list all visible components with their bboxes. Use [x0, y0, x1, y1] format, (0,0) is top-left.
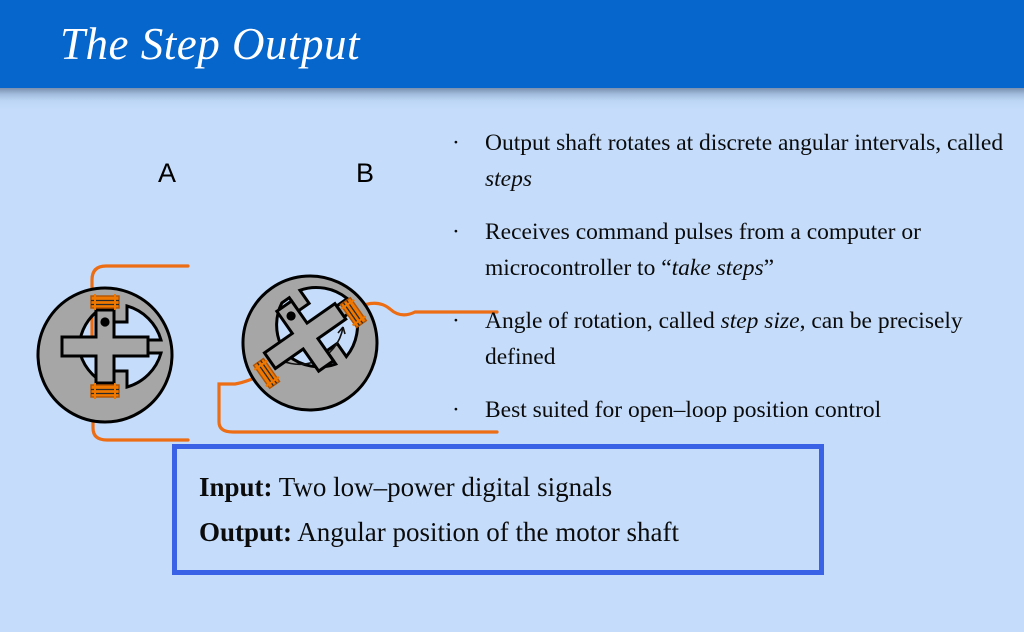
io-line-value: Two low–power digital signals	[273, 472, 613, 502]
bullet-marker-icon: ·	[452, 303, 460, 339]
bullet-item: ·Best suited for open–loop position cont…	[443, 392, 1013, 428]
motor-a-figure	[0, 170, 220, 470]
bullet-text: Output shaft rotates at discrete angular…	[485, 130, 1003, 192]
bullet-item: ·Receives command pulses from a computer…	[443, 214, 1013, 286]
io-summary-box: Input: Two low–power digital signalsOutp…	[172, 444, 824, 575]
bullet-marker-icon: ·	[452, 125, 460, 161]
bullet-marker-icon: ·	[452, 392, 460, 428]
header-drop-shadow	[0, 88, 1024, 110]
io-line-key: Output:	[199, 517, 292, 547]
bullet-marker-icon: ·	[452, 214, 460, 250]
bullet-text: Receives command pulses from a computer …	[485, 219, 921, 281]
io-line: Input: Two low–power digital signals	[199, 465, 809, 510]
io-summary-lines: Input: Two low–power digital signalsOutp…	[199, 465, 809, 555]
io-line-key: Input:	[199, 472, 273, 502]
motor-a-shaft-marker	[100, 317, 109, 326]
bullet-item: ·Output shaft rotates at discrete angula…	[443, 125, 1013, 197]
io-line-value: Angular position of the motor shaft	[292, 517, 679, 547]
slide-canvas: The Step Output A B	[0, 0, 1024, 632]
motor-a-coil-bottom	[91, 383, 119, 399]
io-line: Output: Angular position of the motor sh…	[199, 510, 809, 555]
bullet-text: Best suited for open–loop position contr…	[485, 397, 881, 423]
bullet-text: Angle of rotation, called step size, can…	[485, 308, 963, 370]
motor-a-coil-top	[91, 294, 119, 310]
page-title: The Step Output	[60, 14, 360, 74]
stepper-motor-diagram: A B	[0, 110, 430, 420]
bullet-item: ·Angle of rotation, called step size, ca…	[443, 303, 1013, 375]
bullet-list: ·Output shaft rotates at discrete angula…	[443, 125, 1013, 445]
